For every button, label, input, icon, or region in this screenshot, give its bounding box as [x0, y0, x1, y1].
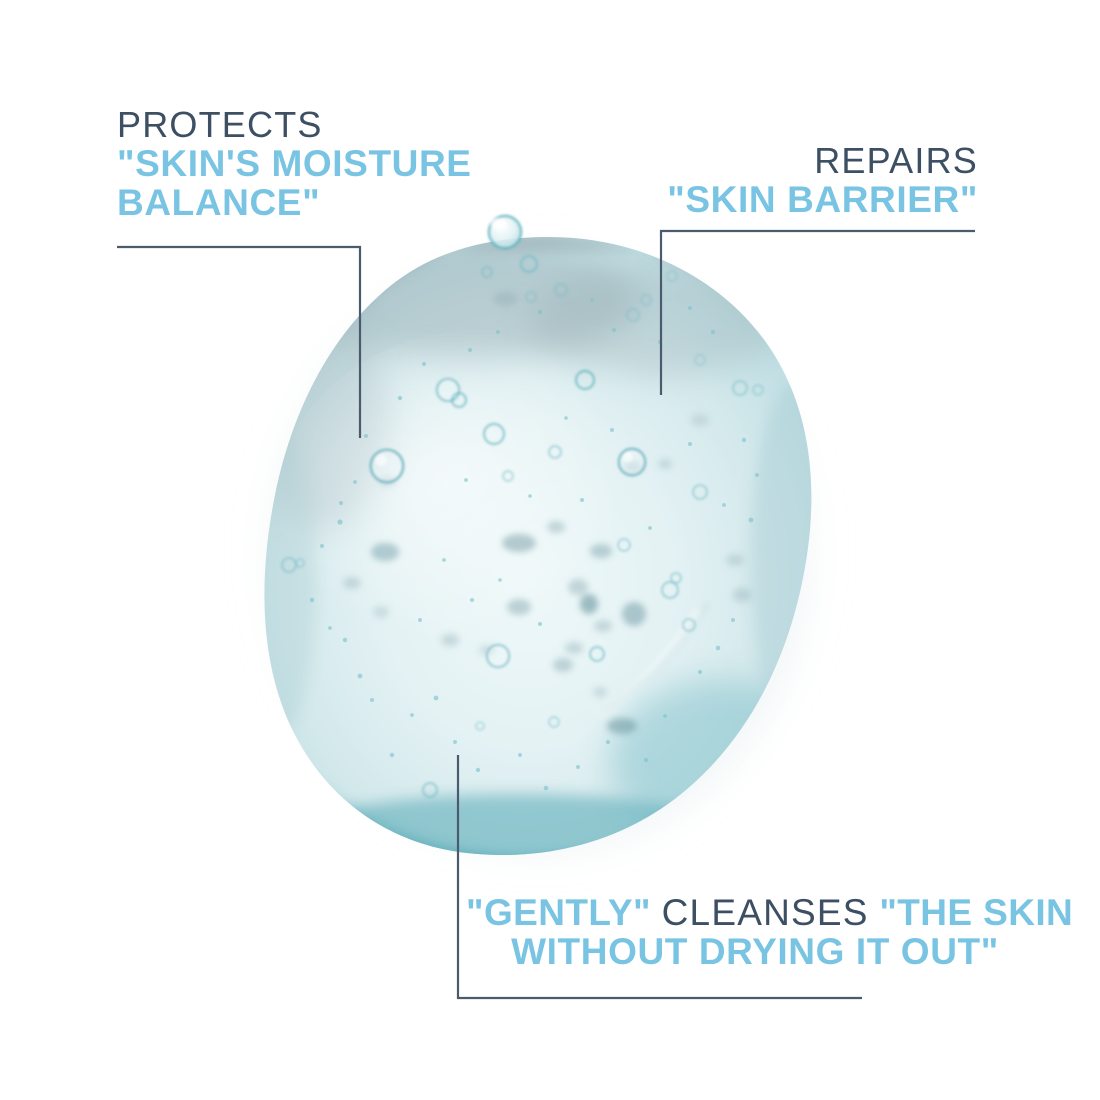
callout-protects-quote-line-2: BALANCE" — [117, 183, 472, 222]
callout-cleanses-cleanses: CLEANSES — [662, 892, 869, 933]
callout-cleanses: "GENTLY" CLEANSES "THE SKIN WITHOUT DRYI… — [466, 893, 1044, 971]
callout-protects-lead: PROTECTS — [117, 106, 472, 144]
callout-protects: PROTECTS "SKIN'S MOISTURE BALANCE" — [117, 106, 472, 223]
leader-line-protects — [117, 247, 360, 438]
gel-body — [264, 237, 811, 855]
callout-cleanses-line-2: WITHOUT DRYING IT OUT" — [466, 932, 1044, 971]
gel-droplet-small — [482, 256, 537, 277]
gel-bubbles — [282, 271, 763, 797]
gel-specks — [343, 292, 751, 734]
callout-repairs-quote-line-1: "SKIN BARRIER" — [560, 180, 978, 219]
gel-halo — [252, 227, 828, 863]
callout-cleanses-the-skin: "THE SKIN — [879, 892, 1073, 933]
callout-cleanses-line-1: "GENTLY" CLEANSES "THE SKIN — [466, 893, 1044, 932]
callout-cleanses-gently: "GENTLY" — [466, 892, 651, 933]
infographic-canvas: PROTECTS "SKIN'S MOISTURE BALANCE" REPAI… — [0, 0, 1100, 1100]
callout-repairs-lead: REPAIRS — [560, 142, 978, 180]
callout-repairs: REPAIRS "SKIN BARRIER" — [560, 142, 978, 219]
callout-protects-quote-line-1: "SKIN'S MOISTURE — [117, 144, 472, 183]
gel-droplet — [489, 216, 521, 248]
leader-line-repairs — [661, 231, 975, 395]
